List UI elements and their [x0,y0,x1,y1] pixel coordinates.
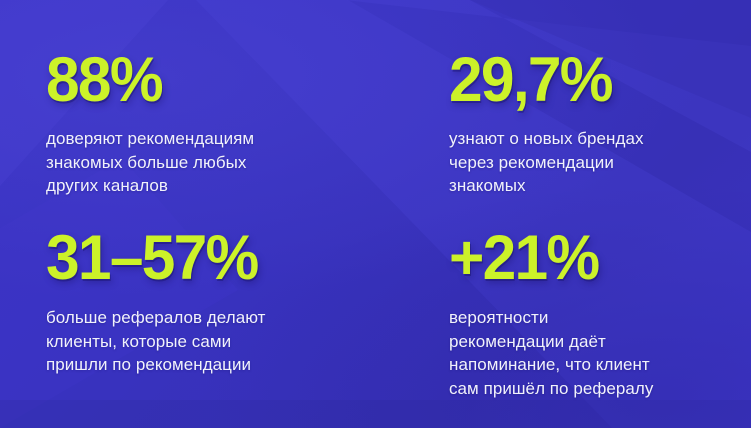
stat-block-reminder-uplift: +21% вероятности рекомендации даёт напом… [449,226,653,400]
stat-number: 88% [46,48,246,112]
infographic-slide: 88% доверяют рекомендациям знакомых боль… [0,0,751,428]
stat-caption: больше рефералов делают клиенты, которые… [46,306,266,377]
stat-caption: доверяют рекомендациям знакомых больше л… [46,127,254,198]
stat-caption: узнают о новых брендах через рекомендаци… [449,127,644,198]
stat-number: 29,7% [449,48,636,112]
stat-block-more-referrals: 31–57% больше рефералов делают клиенты, … [46,226,266,377]
stat-number: +21% [449,226,645,290]
stat-block-trust-recommendations: 88% доверяют рекомендациям знакомых боль… [46,48,254,198]
stat-block-discover-brands: 29,7% узнают о новых брендах через реком… [449,48,644,198]
stat-number: 31–57% [46,226,258,290]
stat-caption: вероятности рекомендации даёт напоминани… [449,306,653,400]
stats-grid: 88% доверяют рекомендациям знакомых боль… [0,0,751,428]
